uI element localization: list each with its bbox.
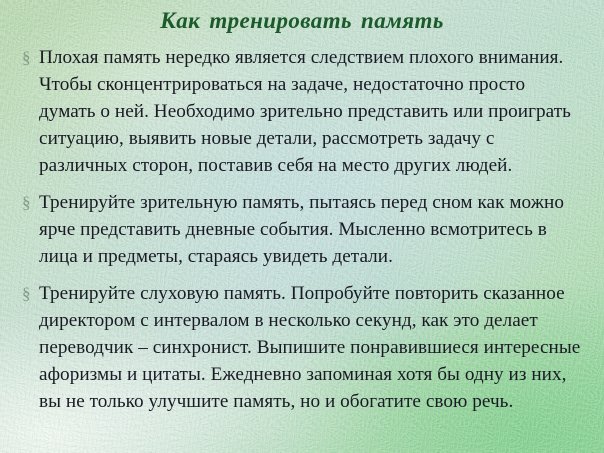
bullet-list: § Плохая память нередко является следств… <box>17 44 583 425</box>
presentation-slide: Как тренировать память § Плохая память н… <box>0 0 604 453</box>
bullet-paragraph-text: Тренируйте слуховую память. Попробуйте п… <box>39 280 583 415</box>
list-item: § Тренируйте слуховую память. Попробуйте… <box>17 280 583 415</box>
list-item: § Плохая память нередко является следств… <box>17 44 583 179</box>
list-item: § Тренируйте зрительную память, пытаясь … <box>17 189 583 270</box>
bullet-paragraph-text: Тренируйте зрительную память, пытаясь пе… <box>39 189 583 270</box>
slide-title: Как тренировать память <box>0 6 604 36</box>
section-sign-bullet-icon: § <box>17 44 39 71</box>
section-sign-bullet-icon: § <box>17 189 39 216</box>
section-sign-bullet-icon: § <box>17 280 39 307</box>
slide-content: Как тренировать память § Плохая память н… <box>0 0 604 453</box>
bullet-paragraph-text: Плохая память нередко является следствие… <box>39 44 583 179</box>
